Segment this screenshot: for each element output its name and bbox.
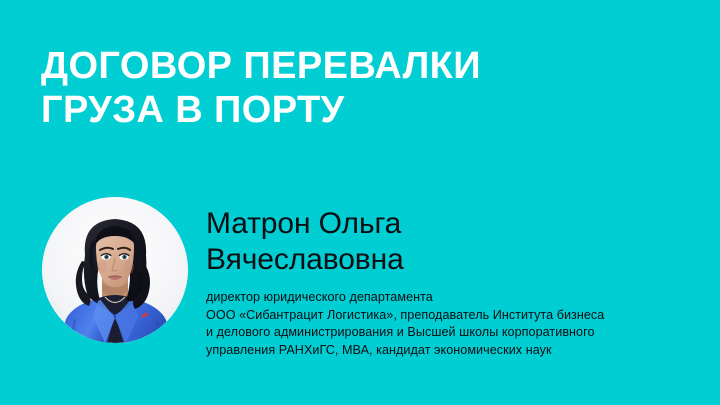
speaker-name-line-2: Вячеславовна [206,242,702,278]
speaker-description-line-3: и делового администрирования и Высшей шк… [206,324,702,342]
title-line-1: ДОГОВОР ПЕРЕВАЛКИ [41,44,661,88]
presentation-slide: ДОГОВОР ПЕРЕВАЛКИ ГРУЗА В ПОРТУ [0,0,720,405]
portrait-photo-icon [42,197,188,343]
slide-title: ДОГОВОР ПЕРЕВАЛКИ ГРУЗА В ПОРТУ [41,44,661,132]
speaker-description: директор юридического департамента ООО «… [206,289,702,359]
speaker-description-line-2: ООО «Сибантрацит Логистика», преподавате… [206,307,702,325]
speaker-description-line-1: директор юридического департамента [206,289,702,307]
speaker-avatar [42,197,188,343]
speaker-description-line-4: управления РАНХиГС, МВА, кандидат эконом… [206,342,702,360]
title-line-2: ГРУЗА В ПОРТУ [41,88,661,132]
speaker-info: Матрон Ольга Вячеславовна директор юриди… [206,206,702,359]
speaker-name-line-1: Матрон Ольга [206,206,702,242]
